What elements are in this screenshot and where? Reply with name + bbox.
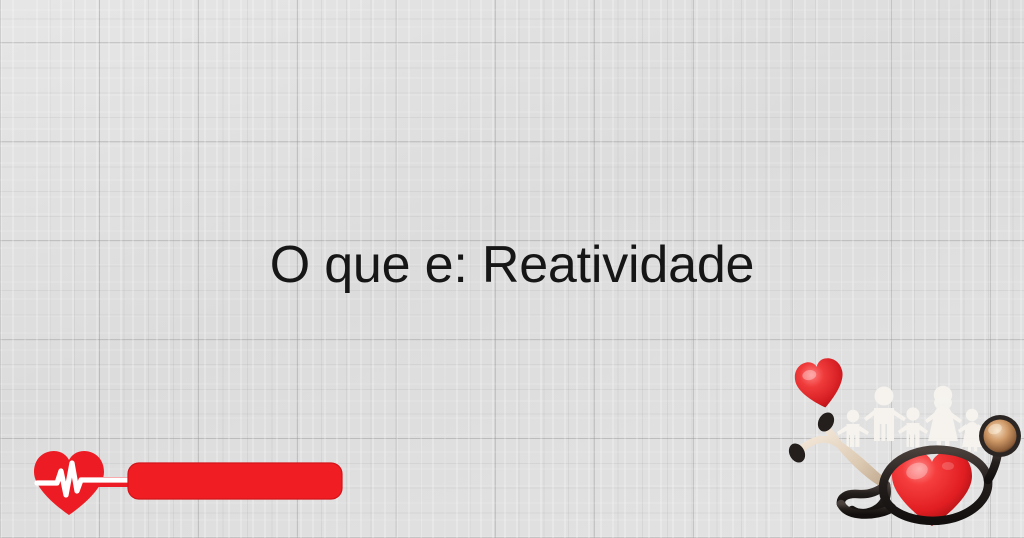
presentation-slide: O que e: Reatividade COREUS SAÚDE [0,0,1024,538]
small-heart-icon [792,355,849,412]
heart-pulse-icon [28,447,348,519]
brand-logo: COREUS SAÚDE [28,447,348,519]
chestpiece-icon [979,415,1021,457]
health-collage-graphic [782,352,1024,538]
page-title: O que e: Reatividade [0,234,1024,296]
family-silhouette-icon [837,386,986,452]
